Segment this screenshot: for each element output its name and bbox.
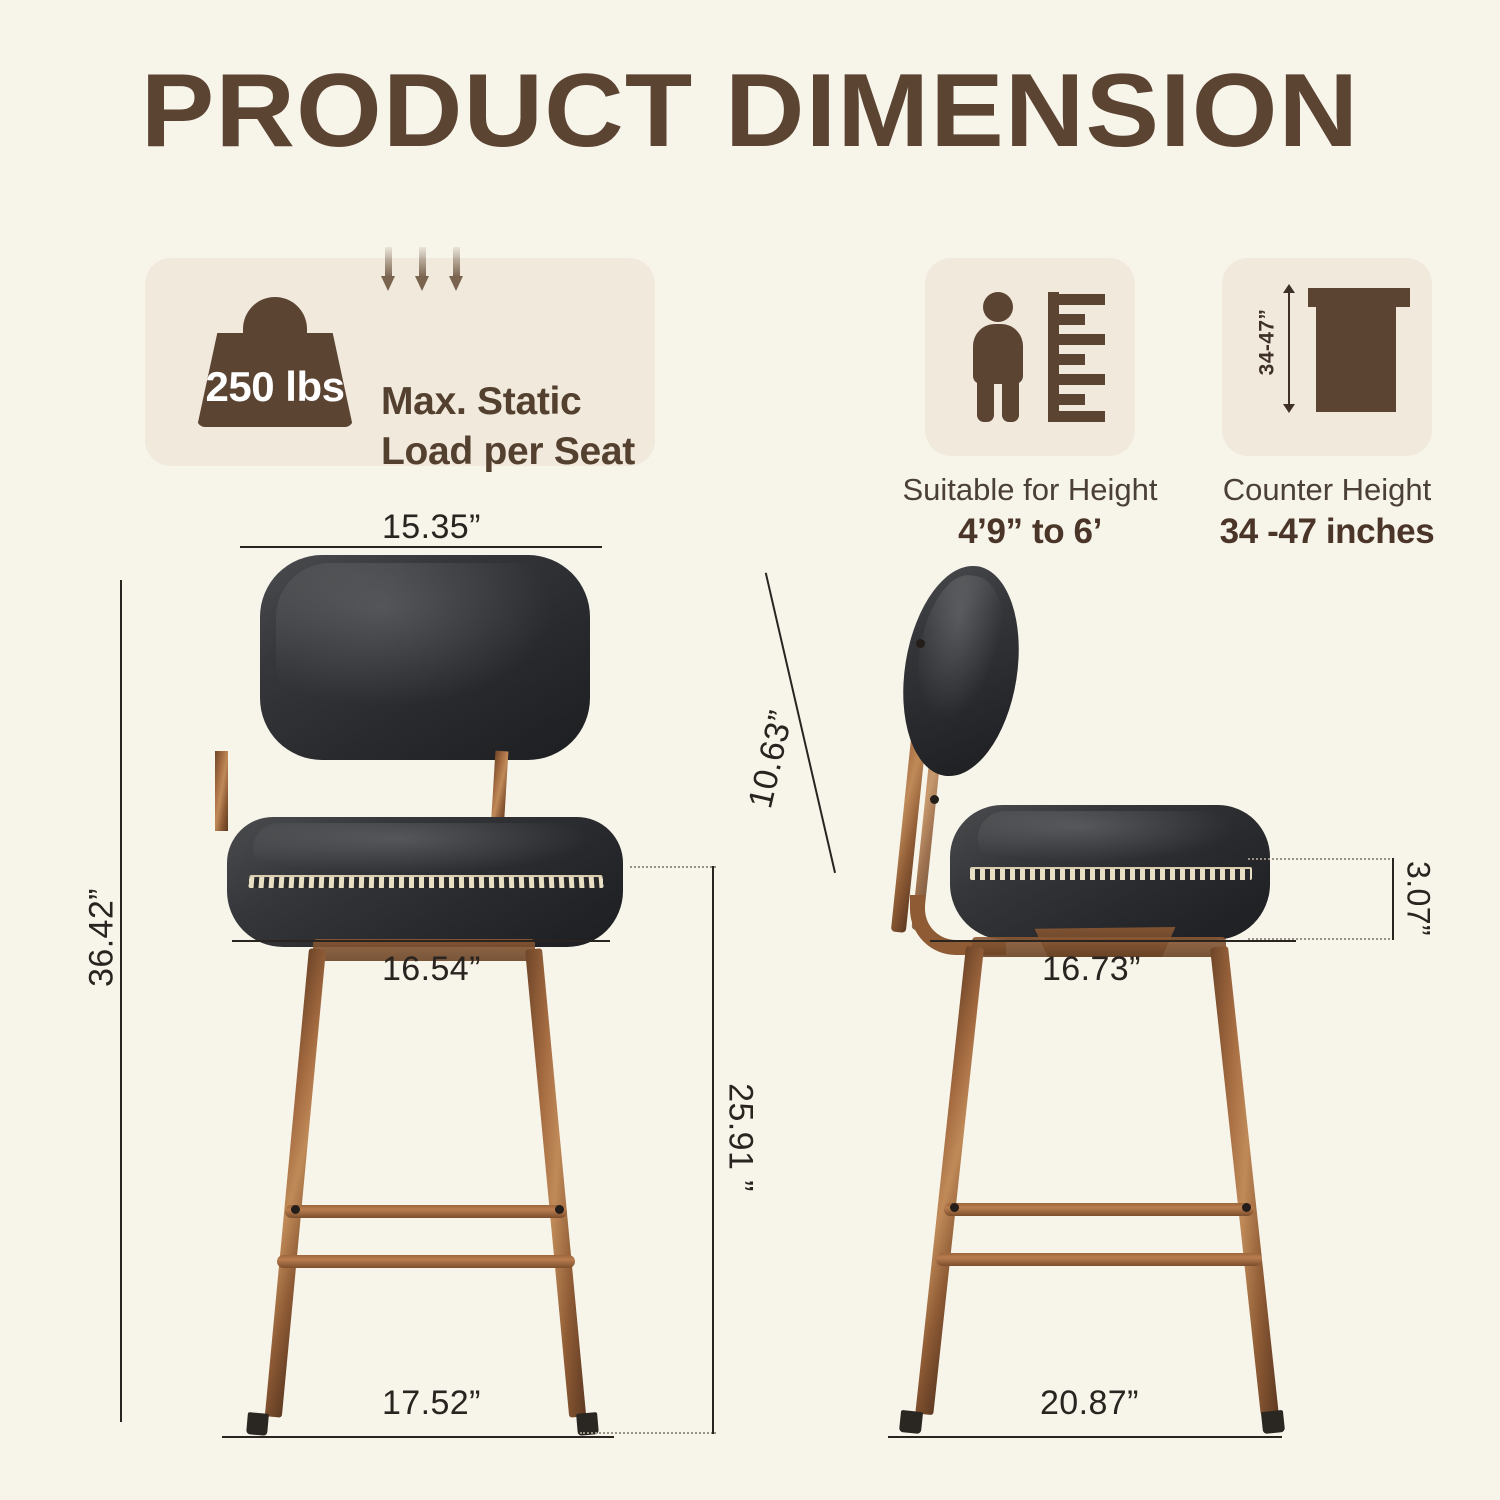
load-description: Max. Static Load per Seat (381, 377, 635, 477)
dimension-line-leg-spread-side (888, 1436, 1282, 1438)
backrest-screw (916, 639, 925, 648)
rail-screw (291, 1205, 300, 1214)
dimension-backrest-width: 15.35” (382, 508, 481, 547)
counter-base (1316, 307, 1396, 412)
arrow-down-icon (449, 247, 463, 291)
extension-line-seat-height-bottom (580, 1432, 716, 1434)
chair-backrest (260, 555, 590, 760)
dimension-line-seat-height (712, 866, 714, 1434)
dimension-backrest-height: 10.63” (741, 707, 801, 812)
dimension-line-leg-spread (222, 1436, 614, 1438)
person-icon (967, 292, 1029, 422)
chair-seat (950, 805, 1270, 940)
chair-foot-front (899, 1410, 923, 1434)
weight-icon: 250 lbs (197, 297, 353, 427)
load-description-line2: Load per Seat (381, 427, 635, 477)
dimension-seat-height: 25.91 ” (721, 1058, 760, 1218)
seat-stitching (970, 867, 1252, 880)
rail-screw (1242, 1203, 1251, 1212)
counter-height-badge: 34-47” (1222, 258, 1432, 456)
counter-height-value: 34 -47 inches (1197, 512, 1457, 552)
counter-dimension-line (1288, 290, 1290, 410)
backrest-screw (930, 795, 939, 804)
footrest-rail-lower (277, 1255, 575, 1268)
chair-leg-right (525, 948, 586, 1418)
footrest-rail-lower (936, 1253, 1262, 1266)
rail-screw (950, 1203, 959, 1212)
down-arrows-group (381, 247, 635, 291)
load-text-block: Max. Static Load per Seat (381, 247, 635, 477)
suitable-height-value: 4’9” to 6’ (900, 512, 1160, 552)
dimension-seat-width: 16.54” (382, 950, 481, 989)
ruler-icon (1048, 292, 1110, 422)
page-title: PRODUCT DIMENSION (0, 52, 1500, 171)
chair-seat (227, 817, 623, 947)
chair-leg-left (265, 948, 326, 1418)
extension-line-seat-height-top (630, 866, 716, 868)
counter-height-label: Counter Height (1197, 472, 1457, 508)
dimension-seat-thickness: 3.07” (1400, 839, 1437, 959)
arrow-down-icon (415, 247, 429, 291)
extension-line-seat-thickness-top (1248, 858, 1394, 860)
arrow-down-icon (381, 247, 395, 291)
weight-value: 250 lbs (206, 363, 345, 411)
dimension-leg-spread-side: 20.87” (1040, 1384, 1139, 1423)
suitable-height-badge (925, 258, 1135, 456)
counter-icon-dimension-text: 34-47” (1255, 309, 1279, 376)
seat-stitching (248, 875, 603, 888)
backrest-post-left (215, 751, 228, 831)
arrow-up-icon (1283, 284, 1295, 293)
max-load-badge: 250 lbs Max. Static Load per Seat (145, 258, 655, 466)
rail-screw (555, 1205, 564, 1214)
counter-icon: 34-47” (1250, 284, 1410, 420)
side-view-chair (880, 555, 1300, 1455)
dimension-line-seat-thickness (1392, 858, 1394, 940)
suitable-height-label: Suitable for Height (900, 472, 1160, 508)
dimension-line-seat-width (232, 940, 610, 942)
chair-leg-rear (1210, 946, 1279, 1415)
arrow-down-icon (1283, 404, 1295, 413)
weight-body: 250 lbs (197, 333, 353, 427)
footrest-rail-upper (944, 1203, 1254, 1216)
front-view-chair (215, 555, 635, 1455)
chair-foot-rear (1261, 1410, 1285, 1434)
footrest-rail-upper (285, 1205, 567, 1218)
chair-leg-front (915, 946, 984, 1415)
load-description-line1: Max. Static (381, 377, 635, 427)
dimension-leg-spread-front: 17.52” (382, 1384, 481, 1423)
chair-foot-left (246, 1412, 269, 1436)
countertop-slab (1308, 288, 1410, 307)
dimension-total-height: 36.42” (83, 858, 122, 1018)
dimension-seat-depth: 16.73” (1042, 950, 1141, 989)
dimension-line-seat-depth (930, 940, 1296, 942)
